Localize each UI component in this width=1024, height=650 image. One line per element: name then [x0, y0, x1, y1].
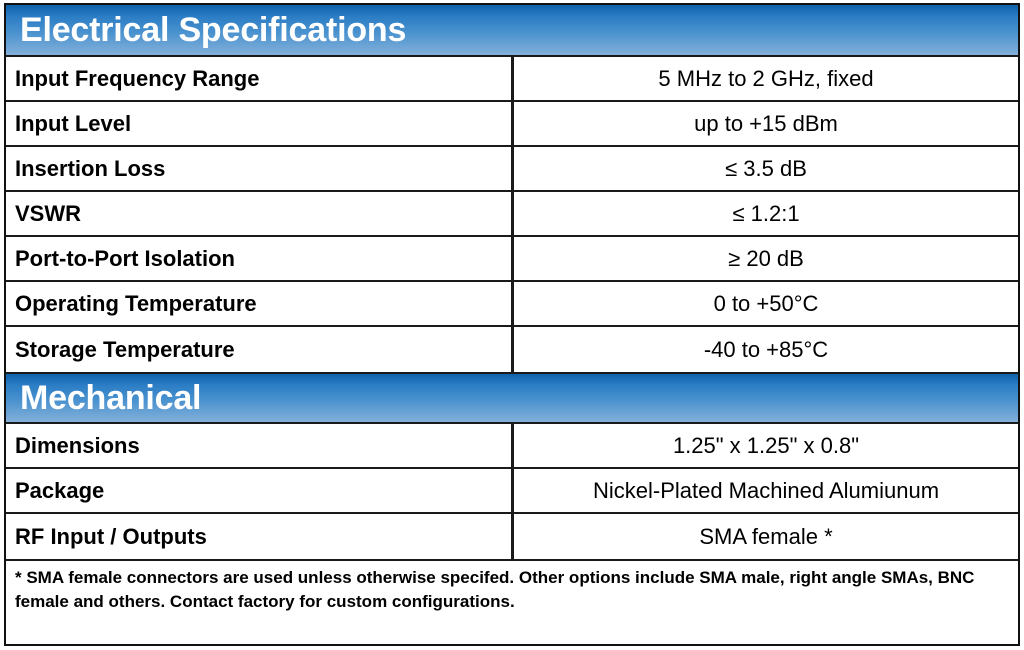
table-row: RF Input / Outputs SMA female *	[6, 514, 1018, 559]
section-header-mechanical: Mechanical	[6, 372, 1018, 424]
row-label: Input Frequency Range	[6, 57, 514, 100]
row-label: VSWR	[6, 192, 514, 235]
table-row: Dimensions 1.25" x 1.25" x 0.8"	[6, 424, 1018, 469]
row-label: Insertion Loss	[6, 147, 514, 190]
row-value: Nickel-Plated Machined Alumiunum	[514, 469, 1018, 512]
row-label: Port-to-Port Isolation	[6, 237, 514, 280]
row-value: 1.25" x 1.25" x 0.8"	[514, 424, 1018, 467]
section-title-mechanical: Mechanical	[20, 381, 201, 415]
section-title-electrical: Electrical Specifications	[20, 13, 406, 47]
row-value: ≤ 1.2:1	[514, 192, 1018, 235]
table-row: Package Nickel-Plated Machined Alumiunum	[6, 469, 1018, 514]
row-label: Package	[6, 469, 514, 512]
specifications-table: Electrical Specifications Input Frequenc…	[4, 3, 1020, 646]
row-value: ≥ 20 dB	[514, 237, 1018, 280]
row-value: up to +15 dBm	[514, 102, 1018, 145]
table-row: Port-to-Port Isolation ≥ 20 dB	[6, 237, 1018, 282]
table-row: Insertion Loss ≤ 3.5 dB	[6, 147, 1018, 192]
row-value: 5 MHz to 2 GHz, fixed	[514, 57, 1018, 100]
row-value: ≤ 3.5 dB	[514, 147, 1018, 190]
row-label: Operating Temperature	[6, 282, 514, 325]
row-label: Storage Temperature	[6, 327, 514, 372]
row-label: Dimensions	[6, 424, 514, 467]
row-label: Input Level	[6, 102, 514, 145]
table-row: Input Level up to +15 dBm	[6, 102, 1018, 147]
table-row: Storage Temperature -40 to +85°C	[6, 327, 1018, 372]
footnote: * SMA female connectors are used unless …	[6, 559, 1018, 644]
row-label: RF Input / Outputs	[6, 514, 514, 559]
section-header-electrical: Electrical Specifications	[6, 5, 1018, 57]
row-value: SMA female *	[514, 514, 1018, 559]
table-row: VSWR ≤ 1.2:1	[6, 192, 1018, 237]
table-row: Operating Temperature 0 to +50°C	[6, 282, 1018, 327]
row-value: -40 to +85°C	[514, 327, 1018, 372]
table-row: Input Frequency Range 5 MHz to 2 GHz, fi…	[6, 57, 1018, 102]
spec-sheet: Electrical Specifications Input Frequenc…	[0, 0, 1024, 650]
row-value: 0 to +50°C	[514, 282, 1018, 325]
